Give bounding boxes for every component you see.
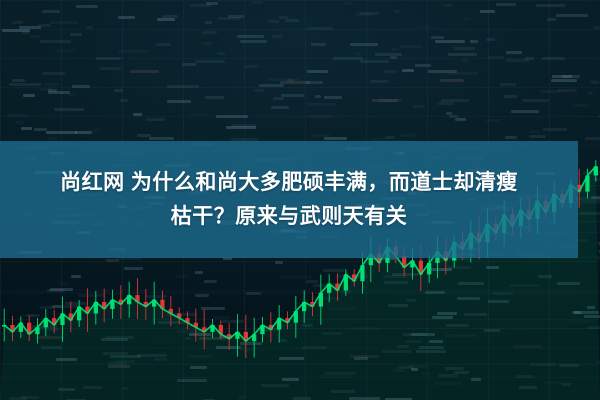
thumbnail-canvas: 尚红网 为什么和尚大多肥硕丰满，而道士却清瘦 枯干？原来与武则天有关 xyxy=(0,0,600,400)
title-line-1: 尚红网 为什么和尚大多肥硕丰满，而道士却清瘦 xyxy=(60,166,518,200)
title-line-2: 枯干？原来与武则天有关 xyxy=(171,200,408,234)
title-overlay-band: 尚红网 为什么和尚大多肥硕丰满，而道士却清瘦 枯干？原来与武则天有关 xyxy=(0,141,578,258)
